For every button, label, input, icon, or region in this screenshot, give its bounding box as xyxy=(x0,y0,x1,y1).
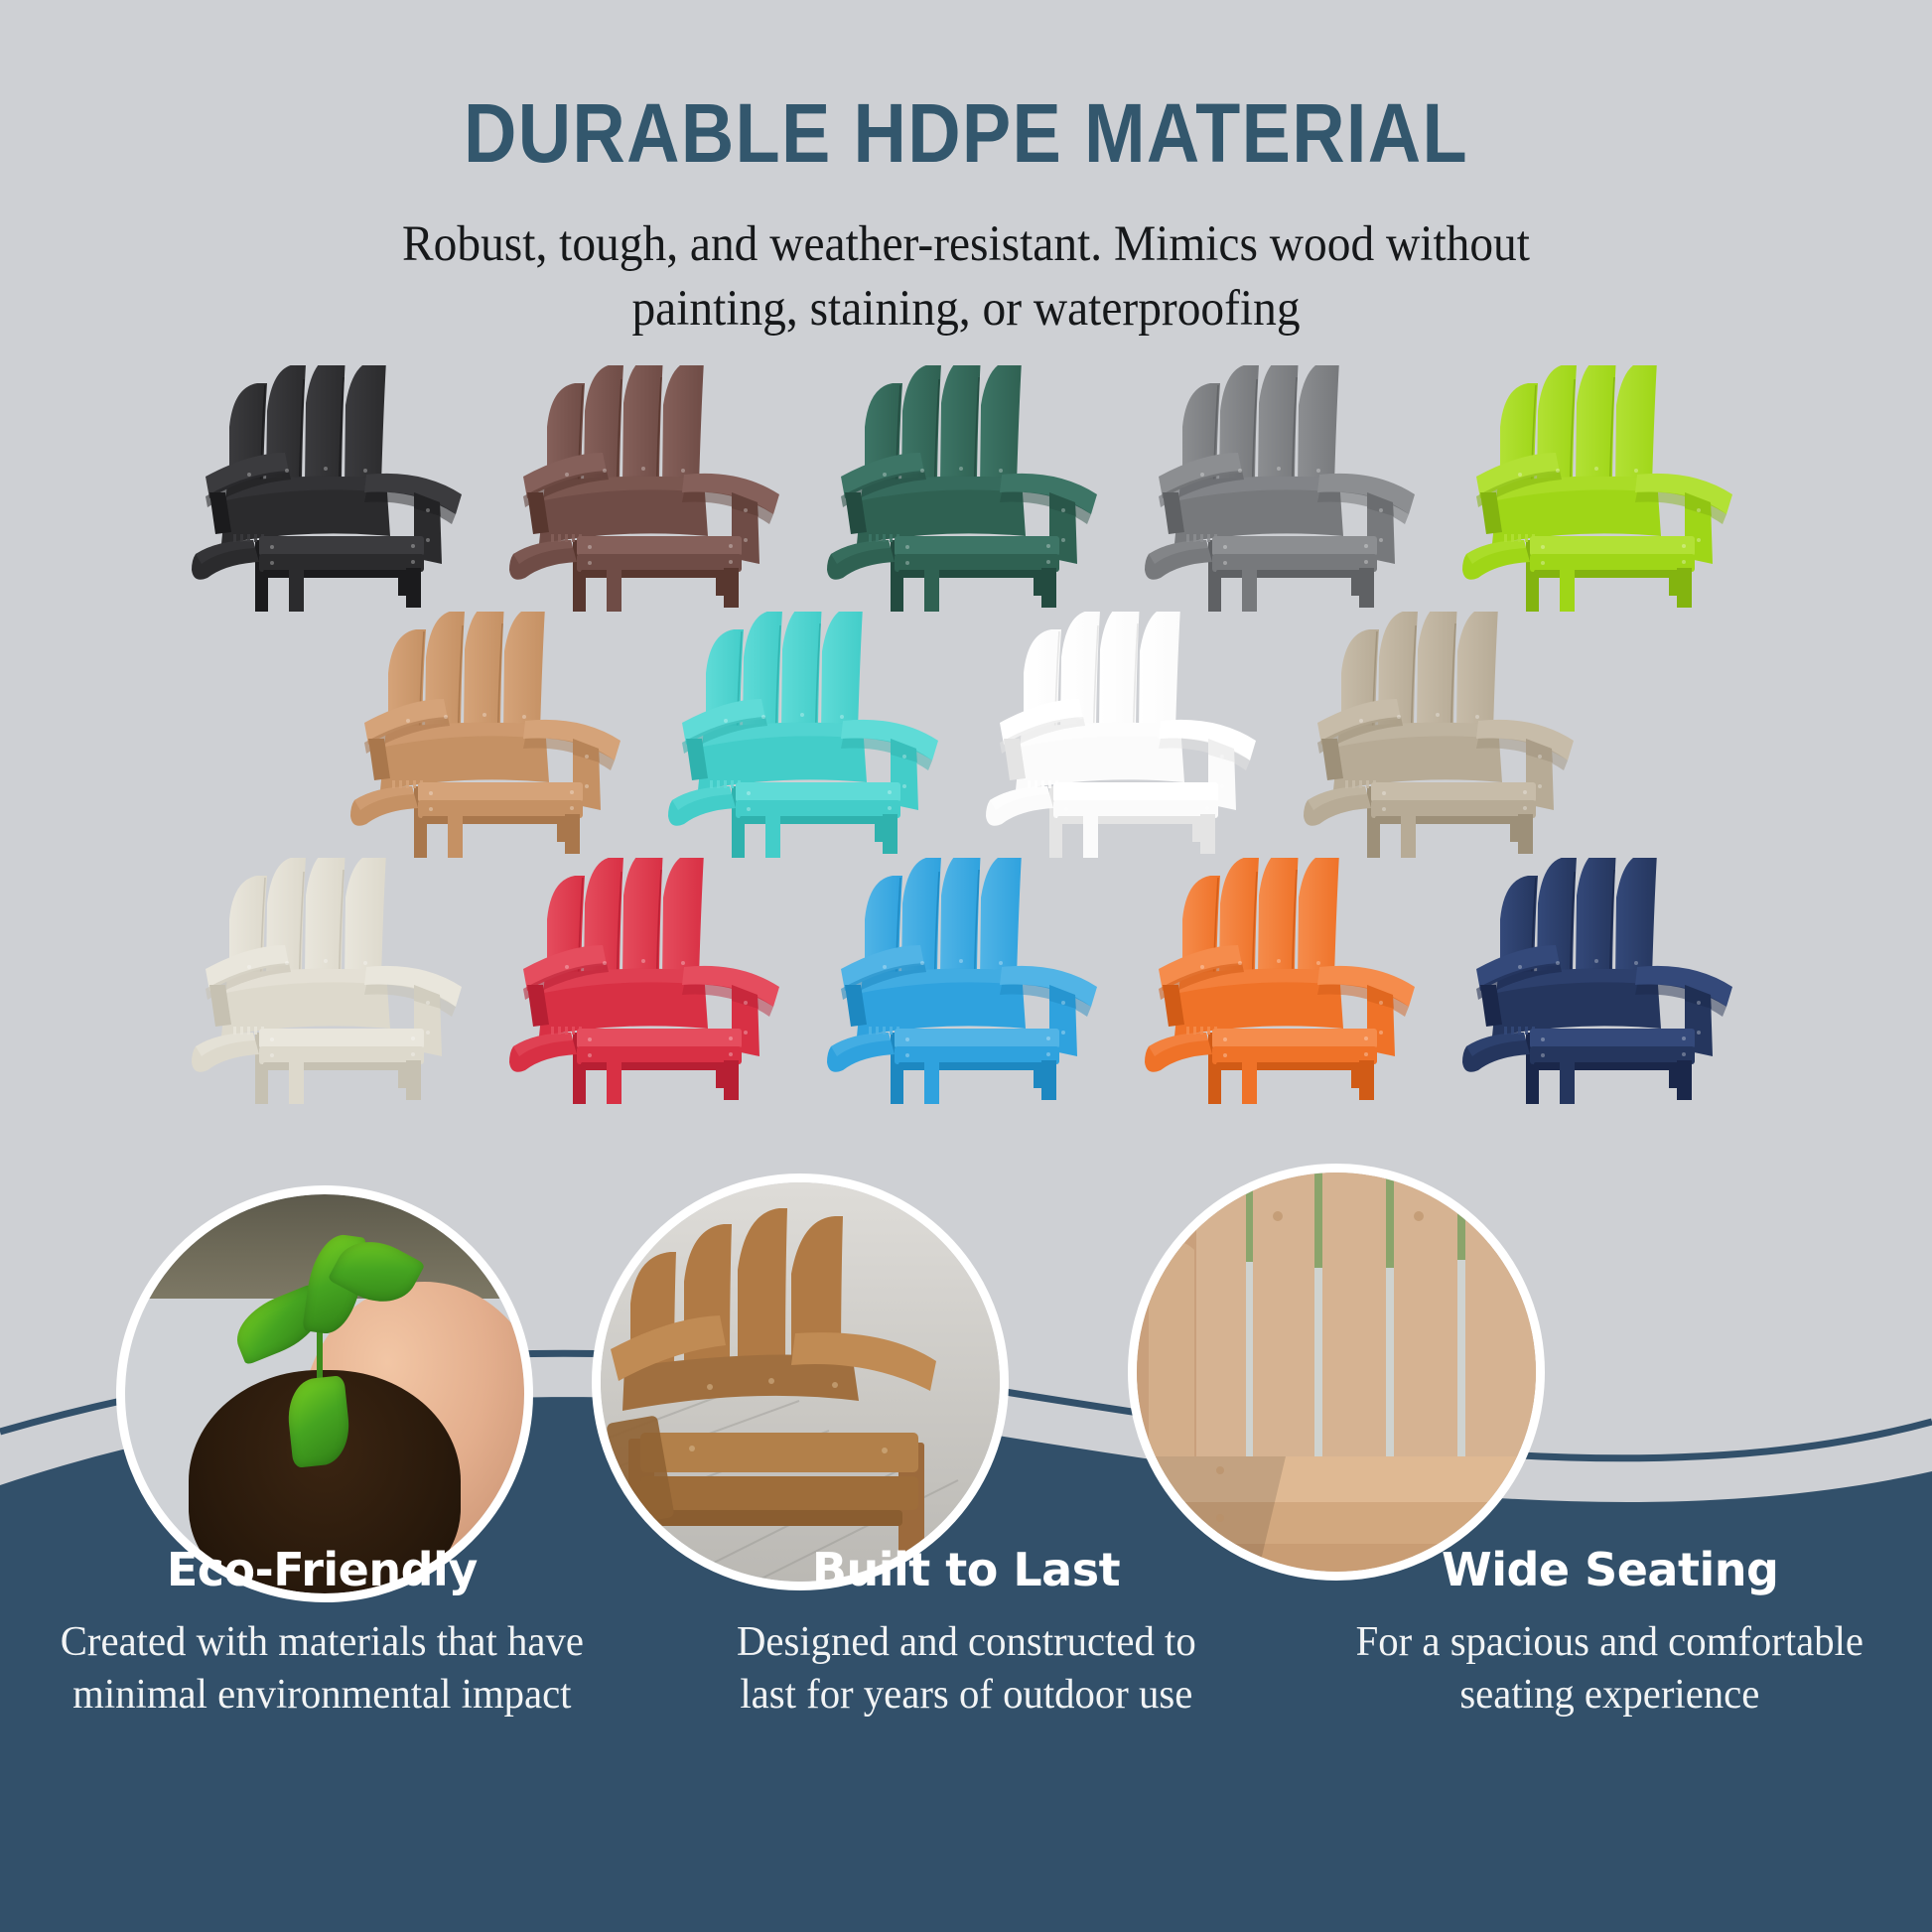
feature-built-to-last: Built to Last Designed and constructed t… xyxy=(644,1505,1289,1932)
feature-eco-friendly: Eco-Friendly Created with materials that… xyxy=(0,1505,644,1932)
chair-row-3 xyxy=(0,858,1932,1104)
chair-swatch-blue[interactable] xyxy=(807,858,1125,1104)
chair-row-1 xyxy=(0,365,1932,612)
page-subtitle: Robust, tough, and weather-resistant. Mi… xyxy=(352,175,1581,343)
chair-swatch-dark-green[interactable] xyxy=(807,365,1125,612)
feature-desc-line-2: minimal environmental impact xyxy=(72,1672,571,1718)
feature-list: Eco-Friendly Created with materials that… xyxy=(0,1505,1932,1932)
chair-swatch-red[interactable] xyxy=(489,858,807,1104)
chair-art-ivory xyxy=(172,858,489,1104)
feature-description: Created with materials that have minimal… xyxy=(33,1596,612,1721)
subtitle-line-1: Robust, tough, and weather-resistant. Mi… xyxy=(352,212,1581,277)
chair-swatch-orange[interactable] xyxy=(1125,858,1443,1104)
chair-dark-green xyxy=(807,365,1125,612)
infographic-canvas: DURABLE HDPE MATERIAL Robust, tough, and… xyxy=(0,0,1932,1932)
chair-art-beige xyxy=(1284,612,1601,858)
chair-gray xyxy=(1125,365,1443,612)
chair-beige xyxy=(1284,612,1601,858)
feature-desc-line-1: For a spacious and comfortable xyxy=(1356,1619,1863,1665)
chair-teak xyxy=(331,612,648,858)
feature-wide-seating: Wide Seating For a spacious and comforta… xyxy=(1288,1505,1932,1932)
chair-orange xyxy=(1125,858,1443,1104)
chair-swatch-brown[interactable] xyxy=(489,365,807,612)
chair-art-teak xyxy=(331,612,648,858)
chair-color-grid xyxy=(0,365,1932,1104)
chair-swatch-ivory[interactable] xyxy=(172,858,489,1104)
feature-desc-line-1: Created with materials that have xyxy=(61,1619,584,1665)
feature-description: For a spacious and comfortable seating e… xyxy=(1320,1596,1899,1721)
chair-art-turquoise xyxy=(648,612,966,858)
chair-art-red xyxy=(489,858,807,1104)
chair-lime-green xyxy=(1443,365,1760,612)
chair-swatch-gray[interactable] xyxy=(1125,365,1443,612)
page-title: DURABLE HDPE MATERIAL xyxy=(116,0,1816,175)
chair-swatch-turquoise[interactable] xyxy=(648,612,966,858)
chair-art-gray xyxy=(1125,365,1443,612)
chair-art-brown xyxy=(489,365,807,612)
chair-brown xyxy=(489,365,807,612)
chair-ivory xyxy=(172,858,489,1104)
chair-art-black xyxy=(172,365,489,612)
chair-navy xyxy=(1443,858,1760,1104)
chair-art-dark-green xyxy=(807,365,1125,612)
feature-title: Eco-Friendly xyxy=(24,1505,621,1596)
chair-swatch-white[interactable] xyxy=(966,612,1284,858)
chair-art-navy xyxy=(1443,858,1760,1104)
chair-art-lime-green xyxy=(1443,365,1760,612)
feature-title: Wide Seating xyxy=(1311,1505,1908,1596)
subtitle-line-2: painting, staining, or waterproofing xyxy=(352,277,1581,342)
chair-white xyxy=(966,612,1284,858)
chair-art-white xyxy=(966,612,1284,858)
chair-art-orange xyxy=(1125,858,1443,1104)
feature-description: Designed and constructed to last for yea… xyxy=(677,1596,1256,1721)
chair-red xyxy=(489,858,807,1104)
feature-title: Built to Last xyxy=(668,1505,1265,1596)
feature-desc-line-1: Designed and constructed to xyxy=(737,1619,1196,1665)
chair-swatch-navy[interactable] xyxy=(1443,858,1760,1104)
chair-art-blue xyxy=(807,858,1125,1104)
chair-blue xyxy=(807,858,1125,1104)
chair-swatch-lime-green[interactable] xyxy=(1443,365,1760,612)
chair-swatch-beige[interactable] xyxy=(1284,612,1601,858)
header: DURABLE HDPE MATERIAL Robust, tough, and… xyxy=(0,0,1932,343)
chair-black xyxy=(172,365,489,612)
chair-turquoise xyxy=(648,612,966,858)
chair-swatch-black[interactable] xyxy=(172,365,489,612)
feature-desc-line-2: seating experience xyxy=(1460,1672,1760,1718)
chair-row-2 xyxy=(0,612,1932,858)
chair-swatch-teak[interactable] xyxy=(331,612,648,858)
feature-desc-line-2: last for years of outdoor use xyxy=(740,1672,1192,1718)
